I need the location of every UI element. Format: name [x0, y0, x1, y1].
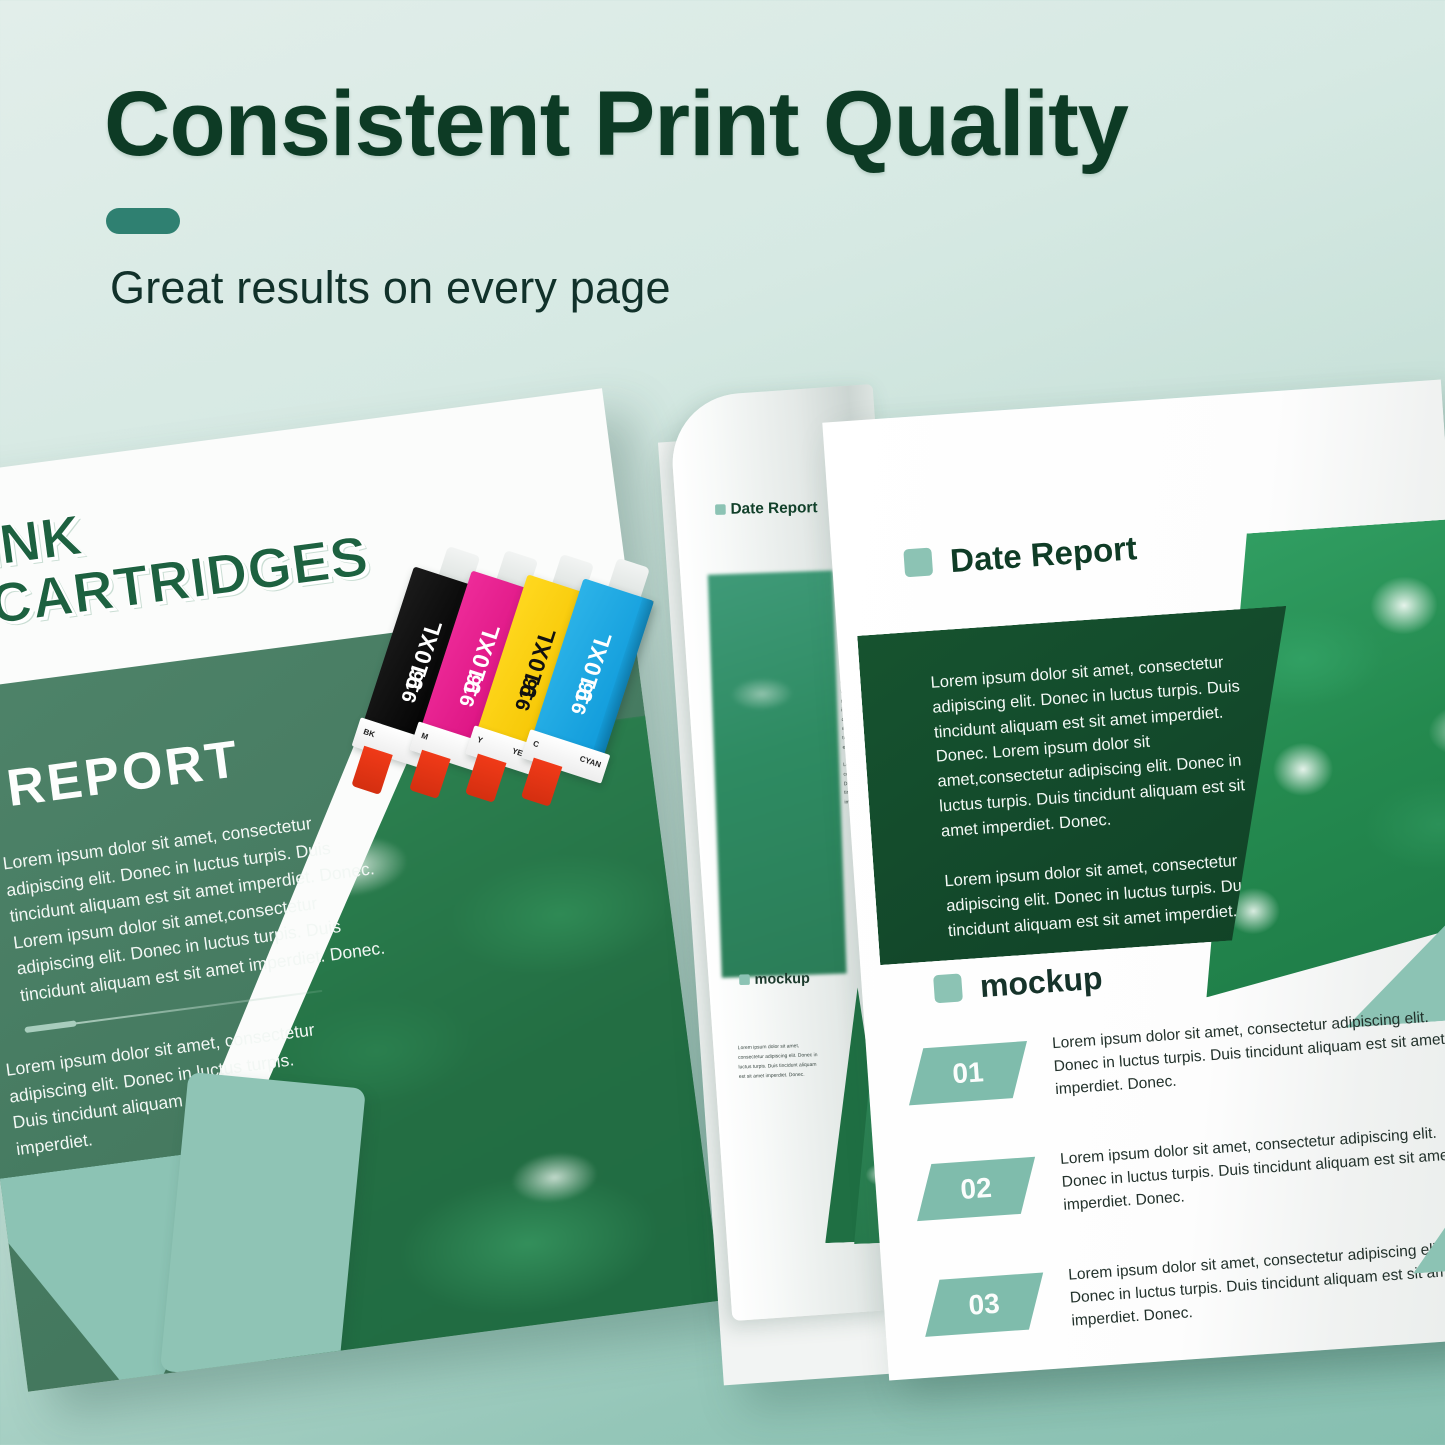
left-brochure-title: INK CARTRIDGES: [0, 469, 372, 634]
right-brochure: Date Report Lorem ipsum dolor sit amet, …: [822, 380, 1445, 1381]
list-item-badge: 01: [909, 1041, 1027, 1105]
list-item-badge: 03: [925, 1272, 1043, 1336]
cartridge-code: Y: [476, 735, 484, 745]
cartridge-code: C: [532, 739, 540, 749]
cartridge-series: 916: [398, 667, 430, 706]
right-brochure-heading-mockup: mockup: [979, 960, 1104, 1005]
list-item-number: 02: [922, 1157, 1030, 1220]
list-item-badge: 02: [917, 1157, 1035, 1221]
left-brochure: INK CARTRIDGES REPORT Lorem ipsum dolor …: [0, 388, 722, 1391]
cartridge-series: 916: [512, 675, 544, 714]
teal-card-accent: [160, 1072, 366, 1388]
cartridge-tab: [351, 746, 393, 795]
right-brochure-heading-date-report: Date Report: [949, 529, 1138, 580]
cartridge-series: 916: [567, 679, 599, 718]
cartridge-code: M: [420, 731, 429, 742]
mockup-list: 01 Lorem ipsum dolor sit amet, consectet…: [914, 1005, 1445, 1380]
ink-cartridge-group: 910XL 916 BK 910XL 916 M MA 9: [342, 538, 652, 857]
cartridge-series: 916: [456, 671, 488, 710]
curled-page-heading-1: Date Report: [730, 500, 817, 519]
curled-page-body-4: Lorem ipsum dolor sit amet, consectetur …: [738, 1042, 820, 1083]
list-item-text: Lorem ipsum dolor sit amet, consectetur …: [1051, 1005, 1445, 1102]
green-block-paragraph-1: Lorem ipsum dolor sit amet, consectetur …: [930, 649, 1261, 844]
cartridge-code: BK: [362, 727, 376, 739]
right-brochure-green-block-text: Lorem ipsum dolor sit amet, consectetur …: [930, 649, 1268, 944]
cartridge-color-name: CYAN: [579, 754, 603, 769]
green-block-paragraph-2: Lorem ipsum dolor sit amet, consectetur …: [944, 847, 1268, 943]
list-item-number: 01: [914, 1042, 1022, 1105]
product-scene: INK CARTRIDGES REPORT Lorem ipsum dolor …: [0, 0, 1445, 1445]
curled-page-heading-2: mockup: [754, 970, 809, 987]
curled-page-photo: [708, 570, 847, 977]
list-item-number: 03: [930, 1273, 1038, 1336]
